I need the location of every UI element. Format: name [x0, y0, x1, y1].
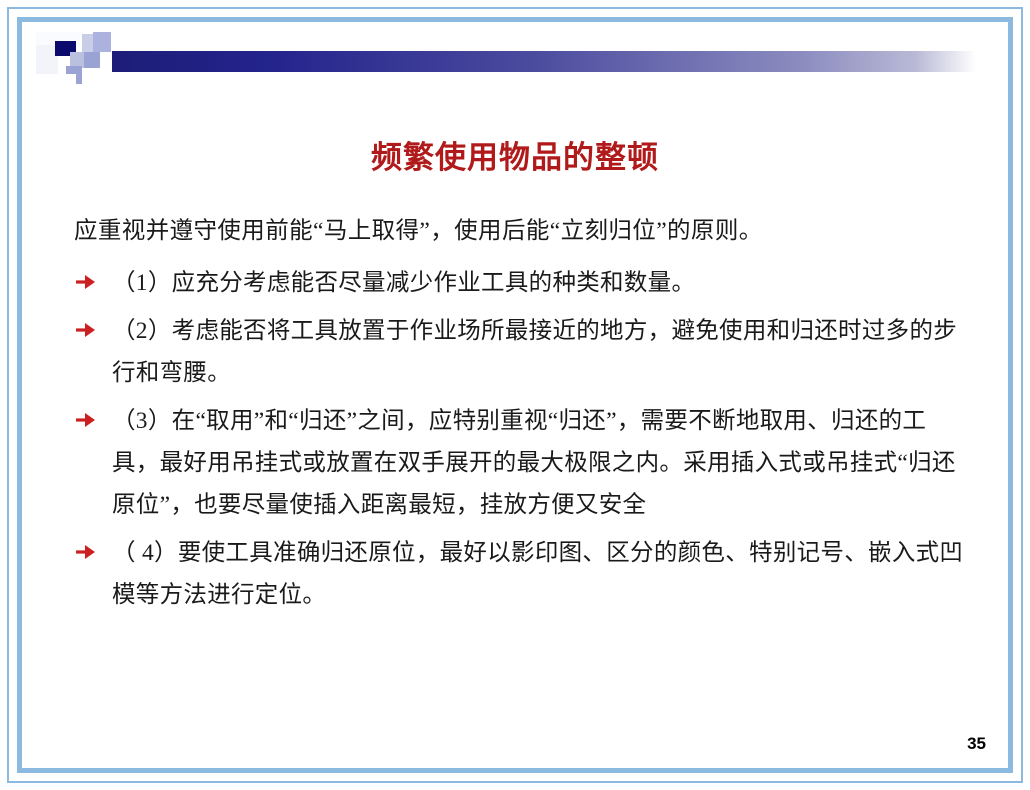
deco-block-lilac-4 — [84, 52, 100, 68]
header-decoration — [36, 32, 976, 94]
list-item: （ 4）要使工具准确归还原位，最好以影印图、区分的颜色、特别记号、嵌入式凹模等方… — [74, 532, 964, 616]
slide: 频繁使用物品的整顿 应重视并遵守使用前能“马上取得”，使用后能“立刻归位”的原则… — [0, 0, 1030, 790]
slide-canvas: 频繁使用物品的整顿 应重视并遵守使用前能“马上取得”，使用后能“立刻归位”的原则… — [22, 22, 1008, 768]
lead-paragraph: 应重视并遵守使用前能“马上取得”，使用后能“立刻归位”的原则。 — [74, 210, 964, 252]
bullet-list: （1）应充分考虑能否尽量减少作业工具的种类和数量。 （2）考虑能否将工具放置于作… — [74, 262, 964, 616]
list-item-text: （2）考虑能否将工具放置于作业场所最接近的地方，避免使用和归还时过多的步行和弯腰… — [112, 318, 957, 386]
page-title: 频繁使用物品的整顿 — [22, 132, 1008, 177]
deco-gradient-bar — [112, 51, 976, 72]
deco-block-white-1 — [36, 74, 76, 94]
list-item-text: （1）应充分考虑能否尽量减少作业工具的种类和数量。 — [112, 270, 695, 296]
arrow-right-icon — [74, 271, 100, 293]
slide-body: 应重视并遵守使用前能“马上取得”，使用后能“立刻归位”的原则。 （1）应充分考虑… — [74, 210, 964, 622]
arrow-right-icon — [74, 409, 100, 431]
list-item: （2）考虑能否将工具放置于作业场所最接近的地方，避免使用和归还时过多的步行和弯腰… — [74, 310, 964, 394]
list-item-text: （ 4）要使工具准确归还原位，最好以影印图、区分的颜色、特别记号、嵌入式凹模等方… — [112, 540, 963, 608]
list-item-text: （3）在“取用”和“归还”之间，应特别重视“归还”，需要不断地取用、归还的工具，… — [112, 408, 956, 518]
arrow-right-icon — [74, 541, 100, 563]
list-item: （3）在“取用”和“归还”之间，应特别重视“归还”，需要不断地取用、归还的工具，… — [74, 400, 964, 526]
page-number: 35 — [967, 734, 986, 754]
deco-block-lilac-2 — [93, 32, 111, 52]
arrow-right-icon — [74, 319, 100, 341]
list-item: （1）应充分考虑能否尽量减少作业工具的种类和数量。 — [74, 262, 964, 304]
